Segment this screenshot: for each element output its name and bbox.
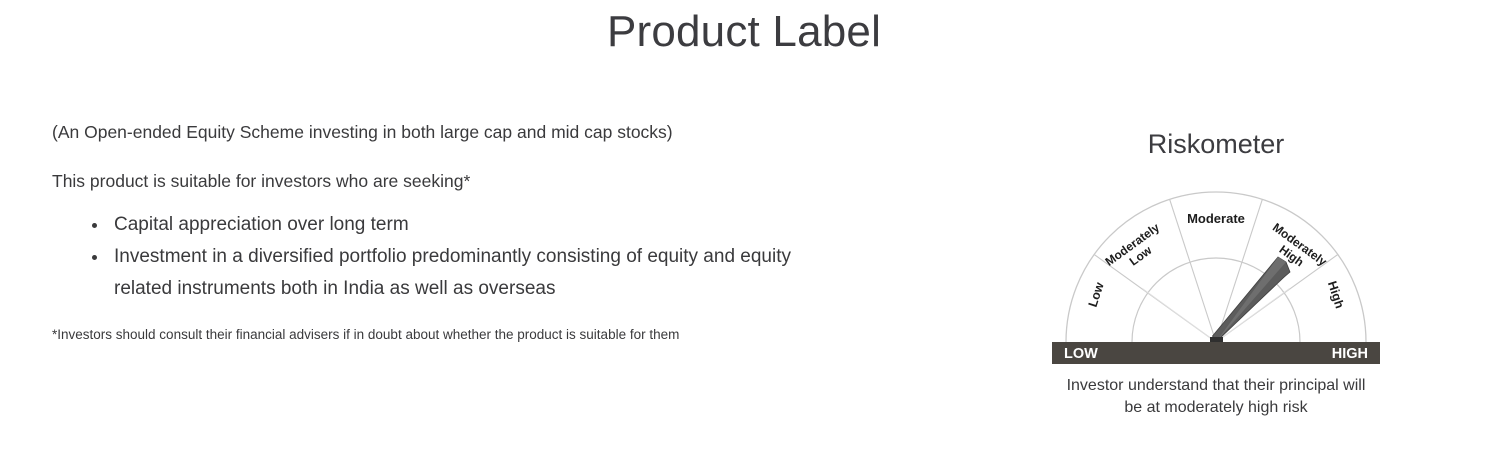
suitability-bullet-list: Capital appreciation over long term Inve… — [52, 209, 852, 305]
product-label-content: (An Open-ended Equity Scheme investing i… — [52, 120, 852, 345]
page-title: Product Label — [0, 6, 1488, 59]
riskometer-gauge: Low Moderately Low Moderate Moderately H… — [1040, 176, 1392, 366]
list-item: Investment in a diversified portfolio pr… — [90, 241, 852, 305]
footnote-disclaimer: *Investors should consult their financia… — [52, 326, 852, 345]
gauge-label-moderate: Moderate — [1187, 211, 1245, 226]
riskometer-caption: Investor understand that their principal… — [1066, 375, 1366, 417]
riskometer-panel: Riskometer Low Moderately Low Moderate — [1040, 128, 1392, 418]
scheme-description: (An Open-ended Equity Scheme investing i… — [52, 120, 852, 145]
suitability-intro: This product is suitable for investors w… — [52, 169, 852, 194]
gauge-base-label-low: LOW — [1064, 346, 1098, 362]
riskometer-gauge-svg: Low Moderately Low Moderate Moderately H… — [1040, 176, 1392, 366]
list-item: Capital appreciation over long term — [90, 209, 852, 241]
gauge-base-label-high: HIGH — [1332, 346, 1368, 362]
riskometer-heading: Riskometer — [1040, 128, 1392, 160]
